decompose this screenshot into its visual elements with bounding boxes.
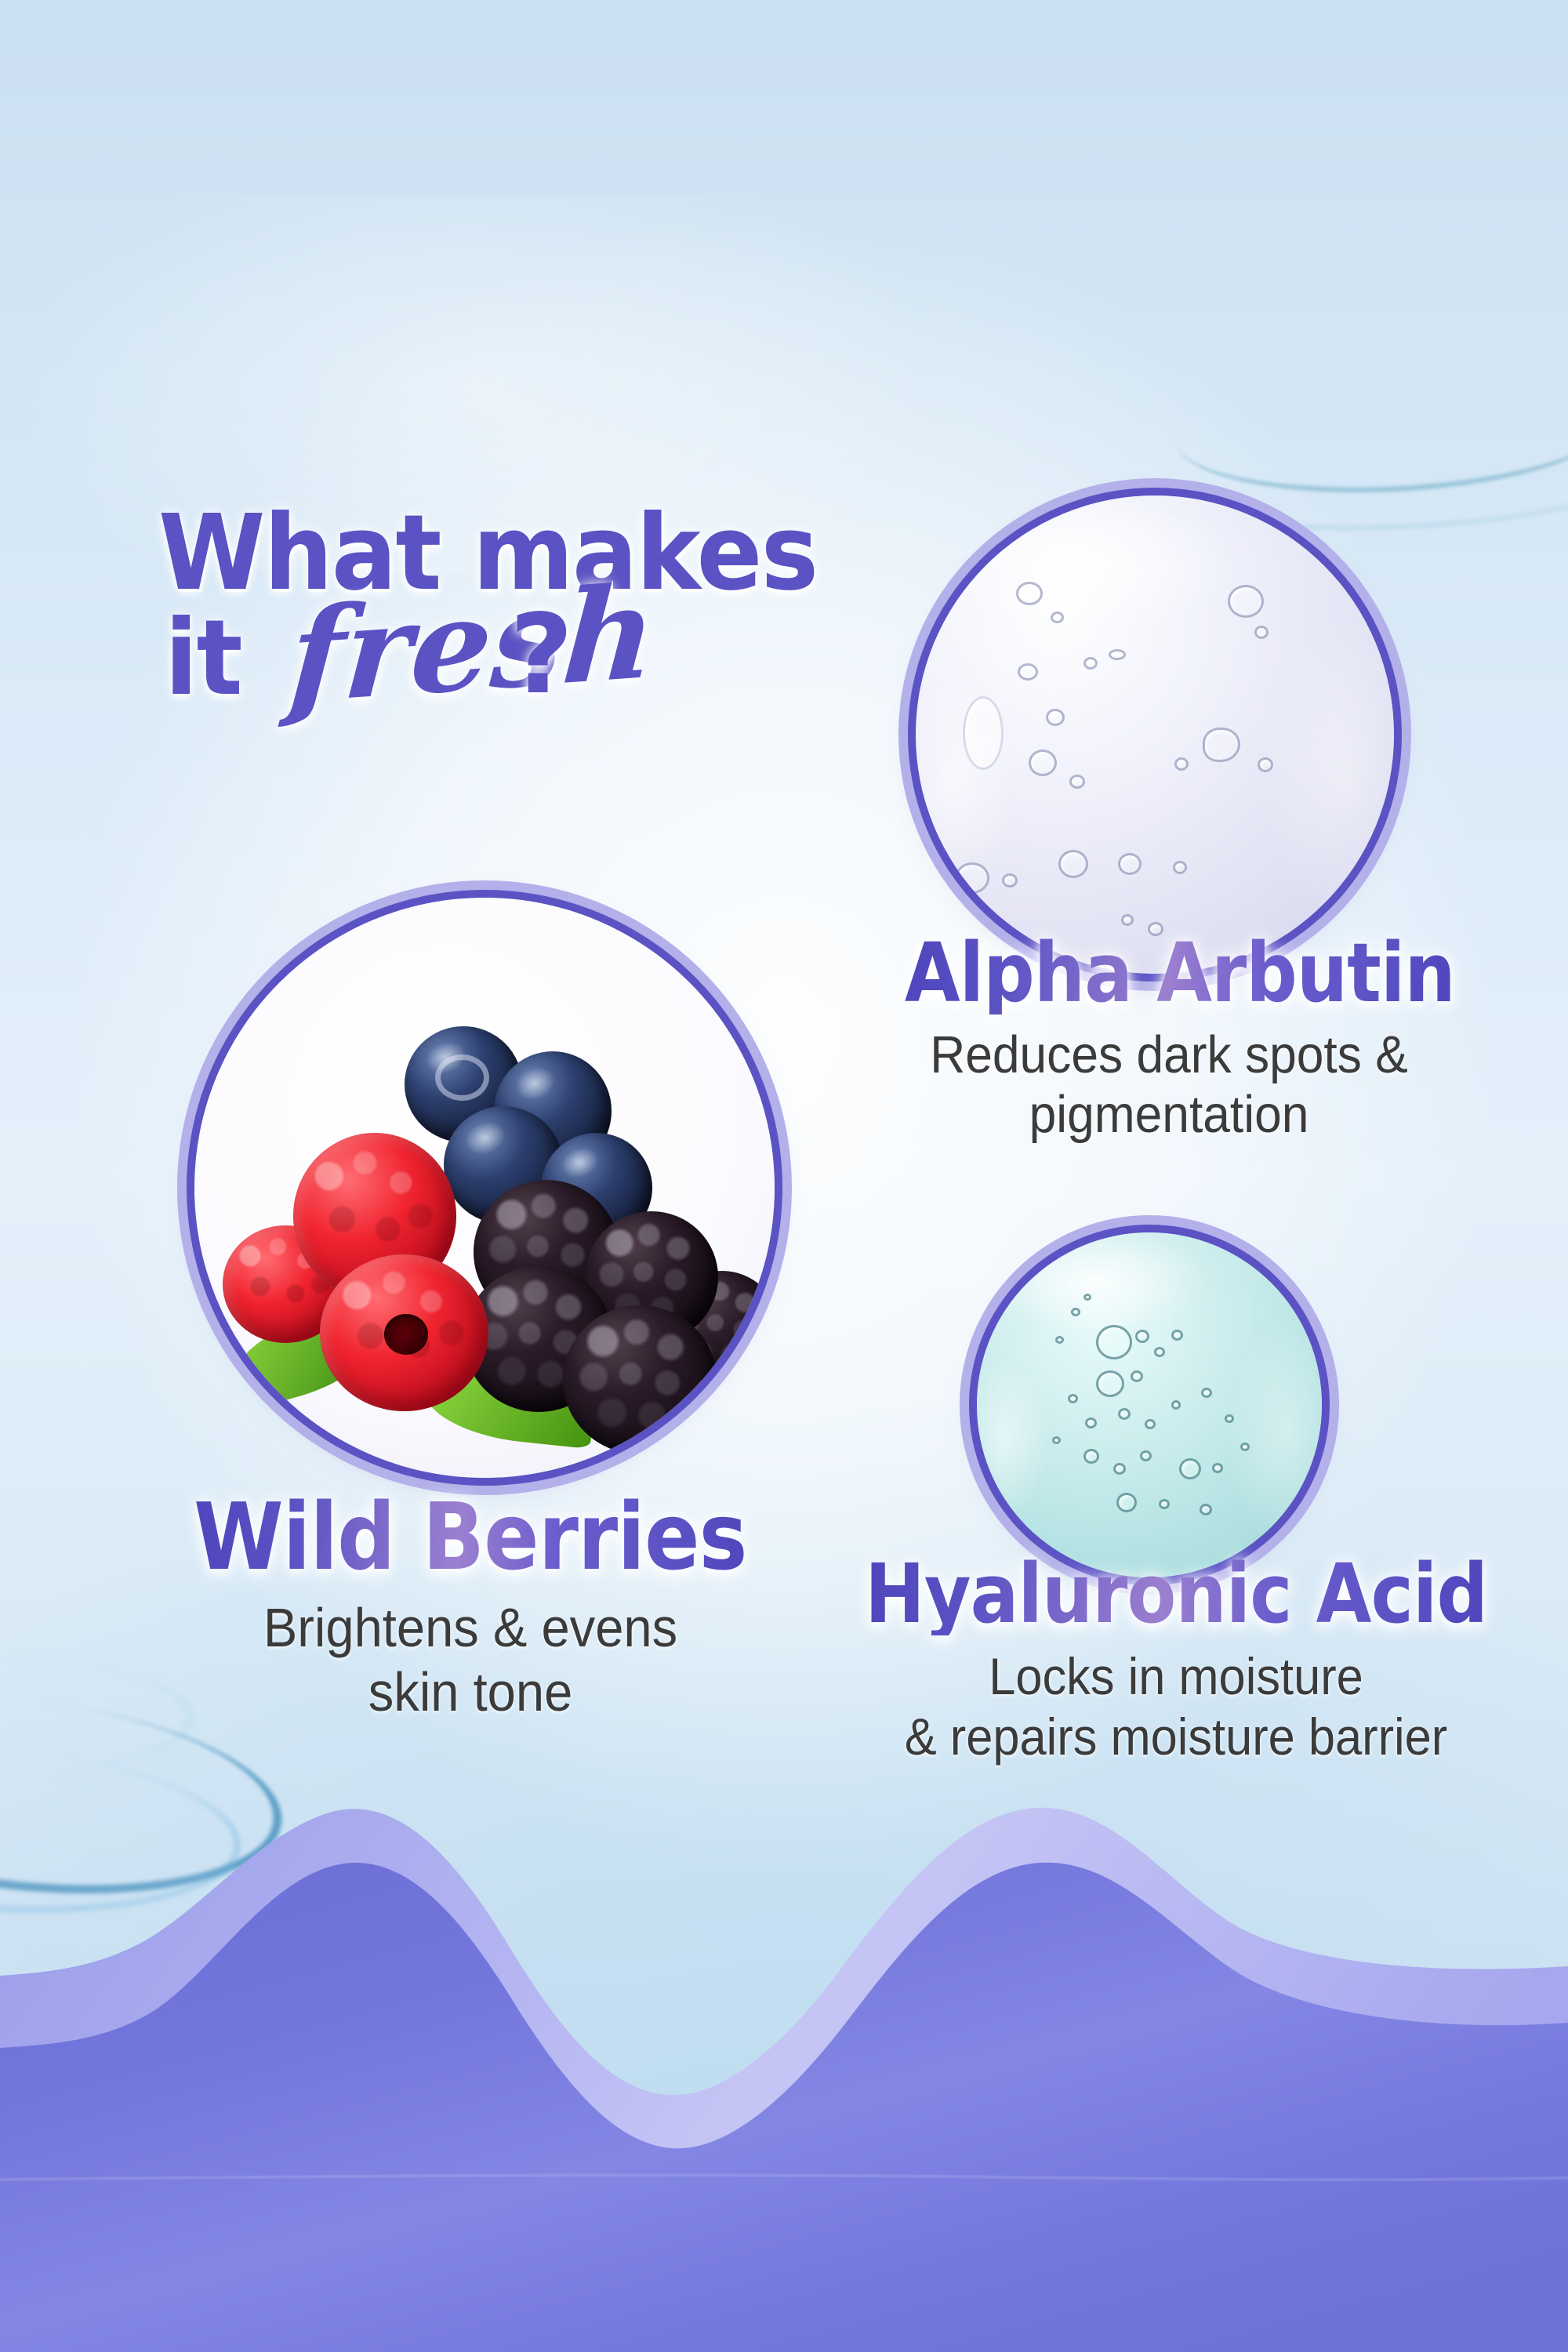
gel-highlight-decoration bbox=[977, 1232, 1322, 1577]
bubble-icon bbox=[1171, 1330, 1183, 1341]
mixed-berries-image bbox=[194, 898, 775, 1478]
bubble-icon bbox=[1179, 1458, 1201, 1479]
ingredient-description-line: Brightens & evens bbox=[135, 1596, 806, 1660]
bubble-icon bbox=[1083, 1294, 1091, 1301]
bubble-icon bbox=[1096, 1325, 1132, 1359]
ingredient-description-wild-berries: Brightens & evens skin tone bbox=[135, 1596, 806, 1723]
ingredient-description-line: pigmentation bbox=[888, 1085, 1450, 1145]
bubble-icon bbox=[1055, 1336, 1064, 1344]
bubble-icon bbox=[1225, 1414, 1234, 1423]
bubble-icon bbox=[1254, 626, 1269, 639]
bubble-icon bbox=[1083, 657, 1098, 670]
blackberry-icon bbox=[563, 1305, 717, 1454]
water-ripple-icon bbox=[1173, 357, 1568, 503]
page-title: What makes it fresh ? bbox=[154, 502, 844, 831]
bubble-icon bbox=[1174, 757, 1189, 771]
ingredient-benefits-poster: What makes it fresh ? Alpha Arbutin bbox=[0, 0, 1568, 2352]
bubble-icon bbox=[1118, 1408, 1131, 1420]
bubble-icon bbox=[1118, 853, 1142, 875]
bubble-icon bbox=[1046, 709, 1065, 726]
bubble-icon bbox=[1228, 585, 1264, 618]
bubble-icon bbox=[1096, 1370, 1124, 1397]
bubble-icon bbox=[1159, 1499, 1170, 1509]
ingredient-title-wild-berries: Wild Berries bbox=[194, 1490, 746, 1584]
page-title-word-fresh-script: fresh bbox=[285, 568, 659, 722]
clear-gel-drop-image bbox=[916, 495, 1394, 974]
bubble-icon bbox=[1051, 612, 1064, 623]
ingredient-card-alpha-arbutin: Alpha Arbutin Reduces dark spots & pigme… bbox=[867, 931, 1471, 1145]
bubble-icon bbox=[1121, 914, 1134, 926]
page-title-question-mark: ? bbox=[510, 601, 573, 710]
ingredient-card-hyaluronic-acid: Hyaluronic Acid Locks in moisture & repa… bbox=[808, 1552, 1544, 1766]
bottom-wave-decoration bbox=[0, 1740, 1568, 2352]
teal-gel-drop-image bbox=[977, 1232, 1322, 1577]
bubble-icon bbox=[1069, 775, 1085, 789]
bubble-icon bbox=[1083, 1449, 1099, 1464]
bubble-icon bbox=[1068, 1394, 1078, 1403]
bubble-icon bbox=[1071, 1308, 1080, 1316]
bubble-icon bbox=[955, 862, 989, 894]
bubble-icon bbox=[1201, 1388, 1212, 1398]
bubble-icon bbox=[1173, 861, 1187, 874]
bubble-icon bbox=[1240, 1443, 1250, 1451]
bubble-icon bbox=[1200, 1504, 1212, 1515]
bubble-icon bbox=[1140, 1450, 1152, 1461]
bubble-icon bbox=[1085, 1417, 1097, 1428]
ingredient-card-wild-berries: Wild Berries Brightens & evens skin tone bbox=[110, 1490, 831, 1724]
ingredient-description-line: Reduces dark spots & bbox=[888, 1025, 1450, 1085]
bubble-icon bbox=[1171, 1400, 1181, 1410]
bubble-icon bbox=[1002, 873, 1018, 887]
bubble-icon bbox=[1029, 750, 1057, 776]
bubble-icon bbox=[1016, 582, 1043, 605]
bubble-icon bbox=[1018, 663, 1038, 681]
ingredient-description-line: Locks in moisture bbox=[833, 1646, 1519, 1707]
bubble-icon bbox=[963, 696, 1004, 770]
bubble-icon bbox=[1113, 1463, 1126, 1475]
bubble-icon bbox=[1058, 850, 1088, 878]
bubble-icon bbox=[1212, 1463, 1223, 1473]
bubble-icon bbox=[1258, 757, 1273, 772]
raspberry-icon bbox=[320, 1254, 488, 1411]
bubble-icon bbox=[1116, 1493, 1137, 1512]
bubble-icon bbox=[1145, 1419, 1156, 1429]
bubble-icon bbox=[1131, 1370, 1143, 1382]
page-title-line-2: it fresh ? bbox=[165, 607, 247, 756]
ingredient-title-hyaluronic-acid: Hyaluronic Acid bbox=[865, 1552, 1487, 1635]
ingredient-description-line: skin tone bbox=[135, 1661, 806, 1724]
bubble-icon bbox=[1154, 1347, 1165, 1357]
bubble-icon bbox=[1135, 1330, 1149, 1343]
page-title-word-it: it bbox=[165, 607, 241, 711]
ingredient-description-alpha-arbutin: Reduces dark spots & pigmentation bbox=[888, 1025, 1450, 1145]
ingredient-title-alpha-arbutin: Alpha Arbutin bbox=[905, 931, 1455, 1014]
bubble-icon bbox=[1052, 1436, 1061, 1444]
bubble-icon bbox=[1109, 649, 1126, 660]
